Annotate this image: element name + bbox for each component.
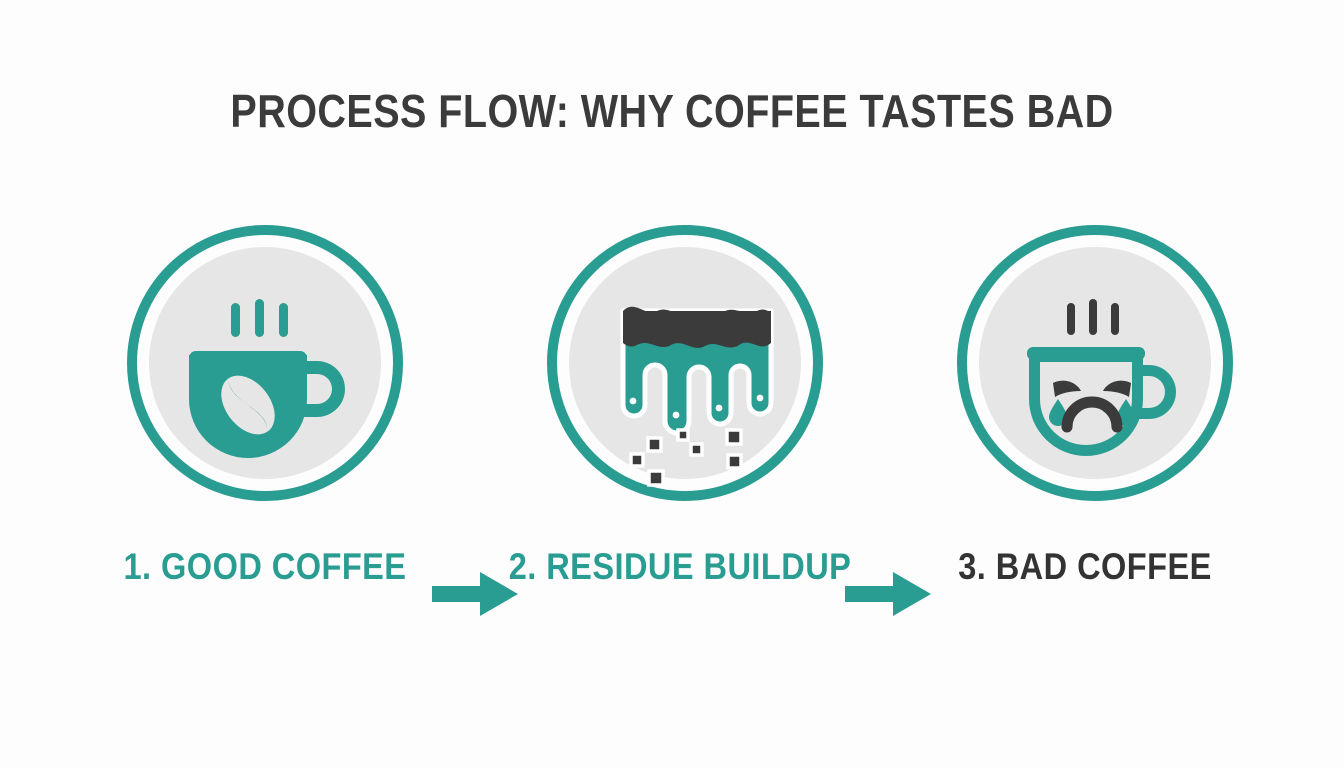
page-title: PROCESS FLOW: WHY COFFEE TASTES BAD: [94, 84, 1250, 138]
sad-coffee-cup-icon: [957, 225, 1233, 501]
residue-drip-icon: [547, 225, 823, 501]
coffee-cup-with-bean-icon: [127, 225, 403, 501]
infographic-canvas: PROCESS FLOW: WHY COFFEE TASTES BAD: [0, 0, 1344, 768]
process-step-3[interactable]: [957, 225, 1233, 501]
process-flow-steps: [0, 225, 1344, 515]
process-step-1[interactable]: [127, 225, 403, 501]
process-step-2[interactable]: [547, 225, 823, 501]
step-2-label: 2. RESIDUE BUILDUP: [486, 546, 873, 588]
step-3-label: 3. BAD COFFEE: [891, 546, 1278, 588]
step-1-label: 1. GOOD COFFEE: [71, 546, 458, 588]
